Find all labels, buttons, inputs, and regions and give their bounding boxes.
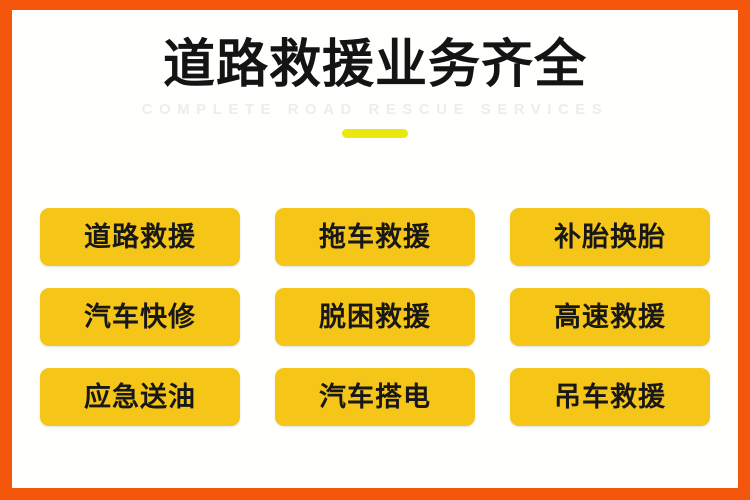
service-chip-extraction-rescue[interactable]: 脱困救援	[275, 288, 475, 346]
service-chip-crane-rescue[interactable]: 吊车救援	[510, 368, 710, 426]
poster-canvas: 道路救援业务齐全 COMPLETE ROAD RESCUE SERVICES 道…	[12, 10, 738, 488]
service-chip-emergency-fuel[interactable]: 应急送油	[40, 368, 240, 426]
service-chip-tow-rescue[interactable]: 拖车救援	[275, 208, 475, 266]
service-chip-label: 汽车搭电	[319, 384, 431, 411]
service-chip-highway-rescue[interactable]: 高速救援	[510, 288, 710, 346]
service-chip-label: 吊车救援	[554, 384, 666, 411]
page-title: 道路救援业务齐全	[12, 38, 738, 93]
service-chip-label: 道路救援	[84, 224, 196, 251]
page-subtitle: COMPLETE ROAD RESCUE SERVICES	[12, 101, 738, 118]
accent-divider	[342, 129, 408, 138]
service-grid: 道路救援 拖车救援 补胎换胎 汽车快修 脱困救援 高速救援 应急送油 汽车搭电	[32, 208, 718, 426]
service-chip-label: 拖车救援	[319, 224, 431, 251]
service-chip-tire-repair[interactable]: 补胎换胎	[510, 208, 710, 266]
service-chip-quick-repair[interactable]: 汽车快修	[40, 288, 240, 346]
service-chip-jump-start[interactable]: 汽车搭电	[275, 368, 475, 426]
service-chip-label: 应急送油	[84, 384, 196, 411]
service-chip-road-rescue[interactable]: 道路救援	[40, 208, 240, 266]
poster-frame: 道路救援业务齐全 COMPLETE ROAD RESCUE SERVICES 道…	[0, 0, 750, 500]
poster-header: 道路救援业务齐全 COMPLETE ROAD RESCUE SERVICES	[12, 38, 738, 138]
service-chip-label: 高速救援	[554, 304, 666, 331]
service-chip-label: 汽车快修	[84, 304, 196, 331]
service-chip-label: 脱困救援	[319, 304, 431, 331]
service-chip-label: 补胎换胎	[554, 224, 666, 251]
